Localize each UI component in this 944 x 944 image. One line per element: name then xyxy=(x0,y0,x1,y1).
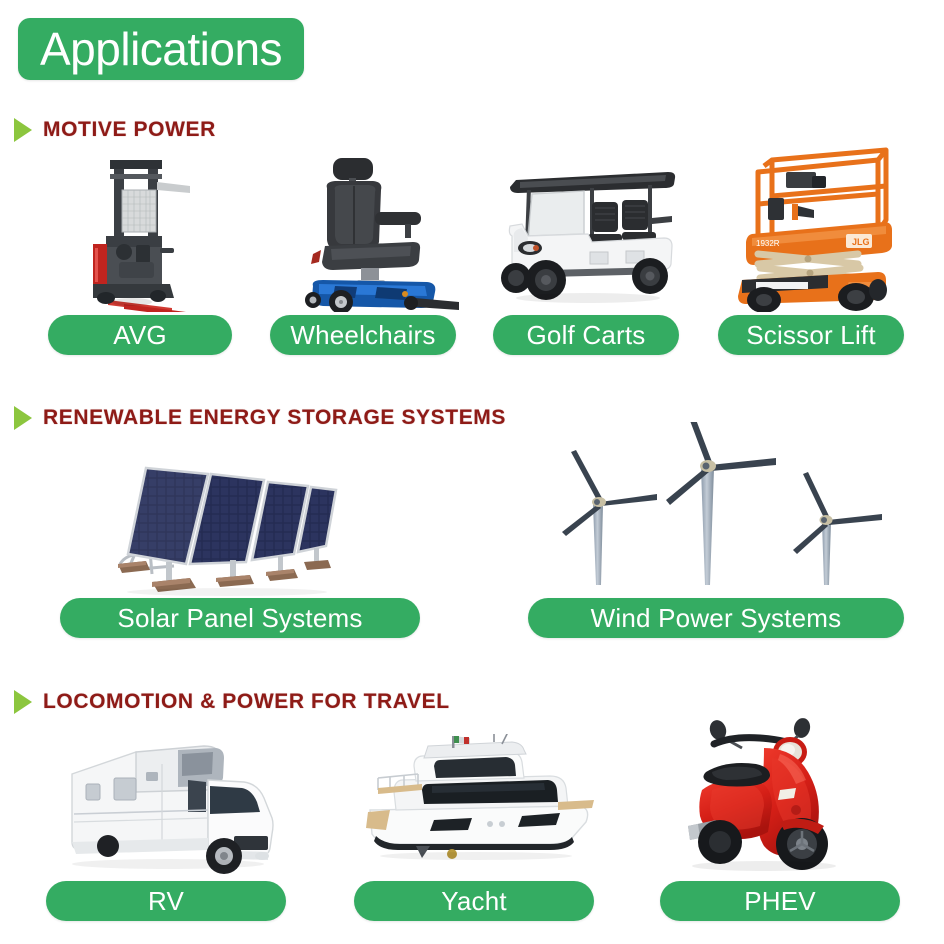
section-heading-label: MOTIVE POWER xyxy=(43,118,216,142)
item-label-text: AVG xyxy=(113,322,167,348)
item-label-text: Scissor Lift xyxy=(746,322,876,348)
item-label-avg[interactable]: AVG xyxy=(48,315,232,355)
scissor-lift-image: JLG 1932R xyxy=(728,142,908,312)
svg-text:JLG: JLG xyxy=(852,237,870,247)
triangle-right-icon xyxy=(14,406,32,430)
item-label-text: RV xyxy=(148,888,184,914)
svg-text:1932R: 1932R xyxy=(756,239,780,248)
page-title-badge: Applications xyxy=(18,18,304,80)
item-label-text: Solar Panel Systems xyxy=(117,605,362,631)
applications-infographic: Applications MOTIVE POWER xyxy=(0,0,944,944)
item-label-wind-power-systems[interactable]: Wind Power Systems xyxy=(528,598,904,638)
item-label-scissor-lift[interactable]: Scissor Lift xyxy=(718,315,904,355)
motor-yacht-image xyxy=(344,734,608,868)
item-label-yacht[interactable]: Yacht xyxy=(354,881,594,921)
item-label-text: Wind Power Systems xyxy=(591,605,842,631)
item-label-rv[interactable]: RV xyxy=(46,881,286,921)
solar-panel-array-image xyxy=(112,442,338,598)
item-label-golf-carts[interactable]: Golf Carts xyxy=(493,315,679,355)
item-label-text: Yacht xyxy=(441,888,507,914)
section-heading-locomotion: LOCOMOTION & POWER FOR TRAVEL xyxy=(14,690,450,714)
section-heading-motive-power: MOTIVE POWER xyxy=(14,118,216,142)
order-picker-forklift-image xyxy=(62,152,240,312)
triangle-right-icon xyxy=(14,690,32,714)
item-label-phev[interactable]: PHEV xyxy=(660,881,900,921)
electric-scooter-image xyxy=(668,714,872,876)
motorhome-rv-image xyxy=(58,718,298,878)
section-heading-renewable-energy: RENEWABLE ENERGY STORAGE SYSTEMS xyxy=(14,406,506,430)
section-heading-label: RENEWABLE ENERGY STORAGE SYSTEMS xyxy=(43,406,506,430)
triangle-right-icon xyxy=(14,118,32,142)
item-label-text: Golf Carts xyxy=(526,322,645,348)
section-heading-label: LOCOMOTION & POWER FOR TRAVEL xyxy=(43,690,450,714)
power-wheelchair-image xyxy=(287,150,467,312)
item-label-wheelchairs[interactable]: Wheelchairs xyxy=(270,315,456,355)
wind-turbines-image xyxy=(552,422,898,598)
item-label-text: PHEV xyxy=(744,888,816,914)
item-label-text: Wheelchairs xyxy=(290,322,435,348)
page-title: Applications xyxy=(40,26,282,72)
golf-cart-image xyxy=(492,160,684,310)
item-label-solar-panel-systems[interactable]: Solar Panel Systems xyxy=(60,598,420,638)
